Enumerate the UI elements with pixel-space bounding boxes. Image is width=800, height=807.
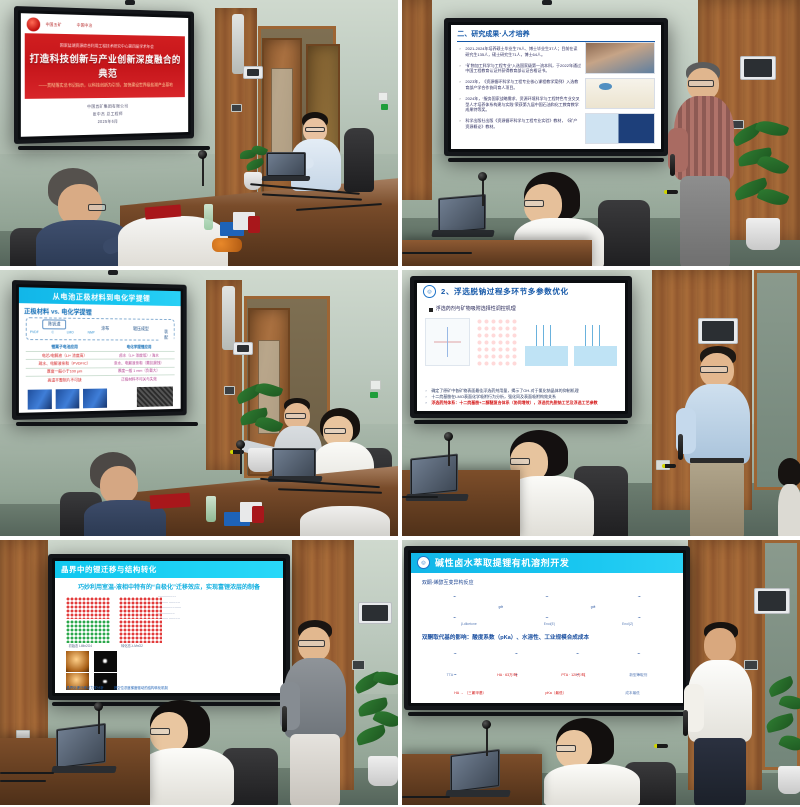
lattice-caption: 初始态 LiMn2O4 [69,643,92,648]
diffraction-pattern [94,651,117,672]
figure-isotherm-plot [425,318,470,367]
ceiling-projector [125,0,135,5]
display-screen: 从电池正极材料到电化学提锂 正极材料 vs. 电化学提锂 陈钒道 涂布 辊压成型… [19,287,181,413]
ceiling-projector [542,0,552,5]
footer-note: 锂空位浓度梯度驱动的结构转化机制 [114,685,168,690]
slide-title: 2、浮选脱钠过程多环节多参数优化 [441,286,569,297]
laptop-screen[interactable] [410,453,458,496]
glasses [298,640,325,647]
exit-sign-icon [381,104,388,110]
head [100,466,138,504]
office-chair [344,128,374,192]
wall-display-6[interactable]: ◎ 碱性卤水萃取提锂有机溶剂开发 双酮-烯醇互变异构反应 ⇌ ⇌ β [404,546,690,710]
structure-captions: β-diketone Enol(E) Enol(Z) [427,622,666,626]
display-screen: 二、研究成果·人才培养 2021-2024年培养硕士毕业生79人、博士毕业生37… [451,25,661,149]
footer-org: 中国五矿集团有限公司 [87,103,128,109]
cell: 厚度一般 1 mm（负载大） [102,368,174,374]
ac-control-panel [358,602,392,624]
slide-red-band: 国家盐湖资源综合利用工程技术研究中心第四届学术年会 打造科技创新与产业创新深度融… [24,33,185,98]
microphone [678,434,683,460]
molecule-structure [567,653,589,675]
logo-mark-minmetals [26,17,40,31]
slide-title: 二、研究成果·人才培养 [457,29,529,39]
material-label: C [51,330,53,334]
molecule-structure [505,653,527,675]
cell: 正极材料不可关与失效 [102,376,174,383]
person-grey-hair-foreground [300,506,390,536]
laser-pointer [654,744,668,748]
room-scene-6: ◎ 碱性卤水萃取提锂有机溶剂开发 双酮-烯醇互变异构反应 ⇌ ⇌ β [402,540,800,805]
trousers [290,734,340,805]
conference-camera [482,720,491,729]
photo-panel-4[interactable]: ◎ 2、浮选脱钠过程多环节多参数优化 浮选药剂与矿物吸附选择性调控机理 确定了原… [402,270,800,536]
molecule-structure [628,653,650,675]
cell: 电芯/电解液（Li+ 浓度高） [26,353,103,359]
water-bottle [206,496,216,522]
wall-display-4[interactable]: ◎ 2、浮选脱钠过程多环节多参数优化 浮选药剂与矿物吸附选择性调控机理 确定了原… [410,276,632,418]
cell: 高温平整制片不可缺 [26,377,103,384]
compound-notes: HA → （三氟甲基） pKa（最低） 成本最低 [425,691,670,696]
figure-surface-adsorption [525,318,568,367]
text-line: ·········· ·········· [158,617,277,622]
glasses [324,428,346,434]
water-bottle [204,204,213,230]
slide-subtitle: 巧妙利用室温-液相中特有的“自极化”迁移效应，实现富锂浓层的制备 [64,582,274,591]
glasses [305,127,325,132]
red-folder [150,493,191,510]
display-mount [408,712,686,716]
laser-pointer [664,190,678,194]
glasses [285,413,306,419]
photo-panel-3[interactable]: 从电池正极材料到电化学提锂 正极材料 vs. 电化学提锂 陈钒道 涂布 辊压成型… [0,270,398,536]
slide-title: 从电池正极材料到电化学提锂 [53,291,151,304]
wood-wall-panel [402,0,432,200]
person-standing-presenter [282,620,356,805]
exit-sign-icon [370,392,378,398]
bullet-item: 2021-2024年培养硕士毕业生79人、博士毕业生37人；目前在读研究生135… [459,46,581,58]
slide-title-bar: 晶界中的锂迁移与结构转化 [55,561,283,578]
compound-label: PTA · 120万/吨 [561,673,585,678]
slide-2: 二、研究成果·人才培养 2021-2024年培养硕士毕业生79人、博士毕业生37… [451,25,661,149]
glasses [556,745,576,752]
person-standing-presenter [668,62,746,266]
display-mount [16,422,198,426]
fire-panel [378,92,388,101]
belt [690,458,744,463]
compound-note: HA → （三氟甲基） [454,691,486,696]
laptop-screen[interactable] [450,749,500,793]
molecule-structure [444,653,466,675]
figure-molecular-model [476,318,519,367]
wall-display-2[interactable]: 二、研究成果·人才培养 2021-2024年培养硕士毕业生79人、博士毕业生37… [444,18,668,156]
slide-title-bar: 从电池正极材料到电化学提锂 [19,287,181,306]
wall-switch [224,386,235,395]
slide-title: 碱性卤水萃取提锂有机溶剂开发 [435,556,569,569]
molecule-structure [628,596,650,618]
institute-emblem-icon: ◎ [423,285,436,298]
photo-grid: 中国五矿 中国中冶 国家盐湖资源综合利用工程技术研究中心第四届学术年会 打造科技… [0,0,800,807]
wall-outlet [231,104,242,112]
ac-control-panel [233,342,253,355]
material-label: LMO [67,330,74,334]
wall-speaker [232,14,244,74]
ac-control-panel [754,588,790,614]
slide-figure-row [425,318,616,367]
cable [402,496,438,498]
microphone [282,706,287,732]
footer-date: 2025年6月 [98,119,119,125]
highlight-text: 双酮取代基的影响：酸度系数（pKa）、水溶性、工业规模合成成本 [422,635,589,641]
slide-notes: 确定了原矿中各矿物表面最佳浮选药剂用量，揭示了OH-对于氯化钠晶体的抑制机理 十… [425,388,616,406]
glasses [700,366,728,373]
glasses [510,458,530,465]
display-mount [448,158,664,162]
figure-surface-adsorption-2 [574,318,617,367]
laptop-base [445,790,510,797]
laptop-screen[interactable] [438,194,486,234]
slide-highlight-line: 双酮取代基的影响：酸度系数（pKa）、水溶性、工业规模合成成本 [422,633,672,641]
bullet-item: 科学出版社出版《资源循环科学与工程专业实验》教材，《矿产资源概论》教材。 [459,118,581,130]
slide-title-bar: 二、研究成果·人才培养 [457,27,654,42]
fire-panel [370,380,381,390]
battery-figure [56,389,80,409]
structure-caption: Enol(E) [544,622,555,626]
slide-5: 晶界中的锂迁移与结构转化 巧妙利用室温-液相中特有的“自极化”迁移效应，实现富锂… [55,561,283,693]
logo-text-1: 中国五矿 [46,21,62,27]
person-standing-presenter [684,622,762,805]
compound-labels: TTA HA · 63万/吨 PTA · 120万/吨 新型萃取剂 [425,673,670,678]
slide-photo-certificate [585,78,654,109]
equilibrium-arrow-icon: ⇌ [591,604,596,611]
room-scene-2: 二、研究成果·人才培养 2021-2024年培养硕士毕业生79人、博士毕业生37… [402,0,800,266]
flow-chip: 涂布 [97,324,114,332]
display-screen: 晶界中的锂迁移与结构转化 巧妙利用室温-液相中特有的“自极化”迁移效应，实现富锂… [55,561,283,693]
slide-comparison-table: 锂离子电池应用 电化学提锂应用 电芯/电解液（Li+ 浓度高） 卤水（Li+ 浓… [26,344,175,385]
sem-micrograph [137,386,173,407]
slide-flow-box: 陈钒道 涂布 辊压成型 装配 PVDF C LMO NMP [26,317,175,340]
torso-white-shirt [138,748,234,805]
material-label: PVDF [30,330,39,334]
torso [778,484,800,536]
head [704,628,736,662]
display-mount [18,146,210,150]
microphone [670,154,675,176]
slide-photo-meeting [585,42,654,73]
torso-white-shirt [544,764,640,805]
cable [402,796,450,798]
molecule-structure [444,596,466,618]
slide-subtitle: 正极材料 vs. 电化学提锂 [24,305,92,316]
mic-stem [482,178,484,206]
battery-figure [28,390,52,411]
conference-camera [198,150,207,159]
slide-section-label: 双酮-烯醇互变异构反应 [422,579,474,586]
mic-stem [240,446,242,474]
slide-4: ◎ 2、浮选脱钠过程多环节多参数优化 浮选药剂与矿物吸附选择性调控机理 确定了原… [417,283,625,411]
university-emblem-icon: ◎ [417,556,430,569]
plant-pot [248,448,274,472]
glasses [88,204,106,211]
compound-label: HA · 63万/吨 [497,673,517,678]
structure-row-top: ⇌ ⇌ [427,591,666,624]
bullet-item: “矿物加工科学与工程专业”入选国家级第一流本科，于2022年通过中国工程教育认证… [459,63,581,75]
trousers-dark [694,738,746,805]
lattice-diagram-initial [66,597,109,619]
structure-caption: β-diketone [461,622,477,626]
display-screen: ◎ 碱性卤水萃取提锂有机溶剂开发 双酮-烯醇互变异构反应 ⇌ ⇌ β [411,553,683,703]
fruit-plate [212,238,242,252]
photo-panel-5[interactable]: 晶界中的锂迁移与结构转化 巧妙利用室温-液相中特有的“自极化”迁移效应，实现富锂… [0,540,398,805]
cell: 亲水、电解液亲和（需抗腐蚀） [102,360,174,366]
slide-subtitle-under: ——贯彻落实总书记指示，以科技创新为引领，加快建设世界级盐湖产业基地 [39,83,173,89]
glasses [150,728,170,735]
laptop-screen[interactable] [266,152,306,177]
wall-display-1[interactable]: 中国五矿 中国中冶 国家盐湖资源综合利用工程技术研究中心第四届学术年会 打造科技… [14,6,194,144]
compound-note: pKa（最低） [545,691,566,696]
tem-micrograph [66,651,89,672]
plant-pot [368,756,398,786]
wall-speaker [222,286,235,350]
room-scene-5: 晶界中的锂迁移与结构转化 巧妙利用室温-液相中特有的“自极化”迁移效应，实现富锂… [0,540,398,805]
display-screen: 中国五矿 中国中冶 国家盐湖资源综合利用工程技术研究中心第四届学术年会 打造科技… [21,13,188,137]
snack-can [248,216,260,233]
logo-text-2: 中国中冶 [77,22,93,28]
material-label: NMP [88,330,95,334]
slide-title-bar: ◎ 2、浮选脱钠过程多环节多参数优化 [417,283,625,301]
flow-chip: 陈钒道 [42,320,66,330]
flow-chip: 装配 [160,328,174,341]
equilibrium-arrow-icon: ⇌ [498,604,503,611]
cable [0,780,46,782]
bullet-item: 2024年，“服务国家战略需求、资源环境科学与工程特色专业交叉型人才培养体系构建… [459,96,581,113]
compound-note: 成本最低 [625,691,639,696]
laptop-base [261,176,310,181]
conference-camera [94,702,103,711]
slide-bullet: 浮选药剂与矿物吸附选择性调控机理 [436,305,516,312]
cell: 卤水（Li+ 浓度低）/ 海水 [102,352,174,358]
note-item-highlight: 浮选药剂体系：十二烷基胺+二醇醚复合体系（协同增效），浮选优先脱钠工艺及浮选工艺… [425,400,616,406]
structure-caption: Enol(Z) [622,622,633,626]
slide-bullet-list: 2021-2024年培养硕士毕业生79人、博士毕业生37人；目前在读研究生135… [459,46,581,135]
compound-label: 新型萃取剂 [629,673,647,678]
photo-panel-6[interactable]: ◎ 碱性卤水萃取提锂有机溶剂开发 双酮-烯醇互变异构反应 ⇌ ⇌ β [402,540,800,805]
mic-stem [98,708,100,734]
laser-pointer [662,464,676,468]
room-scene-4: ◎ 2、浮选脱钠过程多环节多参数优化 浮选药剂与矿物吸附选择性调控机理 确定了原… [402,270,800,536]
footer-person: 张中杰 总工程师 [93,111,123,117]
battery-figure [83,389,106,409]
display-mount [414,420,628,424]
laptop-base [51,766,116,773]
trousers [690,460,744,536]
plant-pot [746,218,780,250]
room-scene-3: 从电池正极材料到电化学提锂 正极材料 vs. 电化学提锂 陈钒道 涂布 辊压成型… [0,270,398,536]
wall-display-3[interactable]: 从电池正极材料到电化学提锂 正极材料 vs. 电化学提锂 陈钒道 涂布 辊压成型… [12,280,187,420]
person-standing-presenter [680,346,762,536]
microphone [683,710,688,736]
slide-title-bar: ◎ 碱性卤水萃取提锂有机溶剂开发 [411,553,683,573]
ceiling-projector [108,270,118,275]
conference-camera [478,172,487,181]
slide-figures [28,384,174,410]
slide-6: ◎ 碱性卤水萃取提锂有机溶剂开发 双酮-烯醇互变异构反应 ⇌ ⇌ β [411,553,683,703]
cell: 厚度一般小于100 μm [26,369,103,376]
photo-panel-2[interactable]: 二、研究成果·人才培养 2021-2024年培养硕士毕业生79人、博士毕业生37… [402,0,800,266]
laptop-screen[interactable] [272,448,316,478]
mic-stem [202,156,204,186]
person-edge-right [778,458,800,536]
slide-text-block: ················· ·········· ·········· … [158,595,277,622]
display-screen: ◎ 2、浮选脱钠过程多环节多参数优化 浮选药剂与矿物吸附选择性调控机理 确定了原… [417,283,625,411]
slide-1: 中国五矿 中国中冶 国家盐湖资源综合利用工程技术研究中心第四届学术年会 打造科技… [21,13,188,137]
molecule-structure [536,596,558,618]
cable [402,252,472,254]
ac-control-panel [698,318,738,344]
lattice-caption: 转化态 λ-MnO2 [121,643,143,648]
person-seated-notetaker [542,718,652,805]
footer-note: 晶界处锂迁移动力学分析 [66,685,103,690]
col-header-right: 电化学提锂应用 [102,345,174,351]
person-seated-notetaker [136,700,246,805]
col-header-left: 锂离子电池应用 [26,344,103,350]
lattice-diagram-intermediate [66,620,109,642]
flow-chip: 辊压成型 [129,325,154,333]
slide-logos: 中国五矿 中国中冶 [26,16,183,35]
conference-camera [444,432,453,441]
snack-can [252,506,264,523]
wall-display-5[interactable]: 晶界中的锂迁移与结构转化 巧妙利用室温-液相中特有的“自极化”迁移效应，实现富锂… [48,554,290,700]
cell: 疏水、电解液亲和（PVDF/C） [26,361,103,367]
slide-footer-notes: 晶界处锂迁移动力学分析 锂空位浓度梯度驱动的结构转化机制 [66,685,276,690]
lattice-diagram-final [119,597,162,619]
hair [778,458,800,486]
cable [0,772,54,774]
photo-panel-1[interactable]: 中国五矿 中国中冶 国家盐湖资源综合利用工程技术研究中心第四届学术年会 打造科技… [0,0,398,266]
plant-pot [244,172,262,190]
table-header-row: 锂离子电池应用 电化学提锂应用 [26,344,175,352]
bullet-item: 2023年，《资源循环科学与工程专业核心课程教学案例》入选教育部产学合作协同育人… [459,79,581,91]
slide-footer: 中国五矿集团有限公司 张中杰 总工程师 2025年6月 [21,102,188,126]
mic-stem [486,726,488,756]
slide-subtitle-top: 国家盐湖资源综合利用工程技术研究中心第四届学术年会 [60,43,154,49]
plant-pot [778,766,800,794]
laptop-base [431,230,494,237]
trousers [680,176,730,266]
glasses [688,80,714,87]
slide-photo-textbooks [585,113,654,144]
mic-stem [448,438,450,466]
ac-control-panel [243,66,263,79]
glasses [524,200,544,207]
compound-label: TTA [447,673,454,678]
lattice-diagram-final-2 [119,620,162,642]
slide-image-column [585,42,654,144]
slide-title: 晶界中的锂迁移与结构转化 [61,564,157,575]
slide-main-title: 打造科技创新与产业创新深度融合的典范 [29,50,181,80]
slide-3: 从电池正极材料到电化学提锂 正极材料 vs. 电化学提锂 陈钒道 涂布 辊压成型… [19,287,181,413]
conference-camera [236,440,245,449]
room-scene-1: 中国五矿 中国中冶 国家盐湖资源综合利用工程技术研究中心第四届学术年会 打造科技… [0,0,398,266]
